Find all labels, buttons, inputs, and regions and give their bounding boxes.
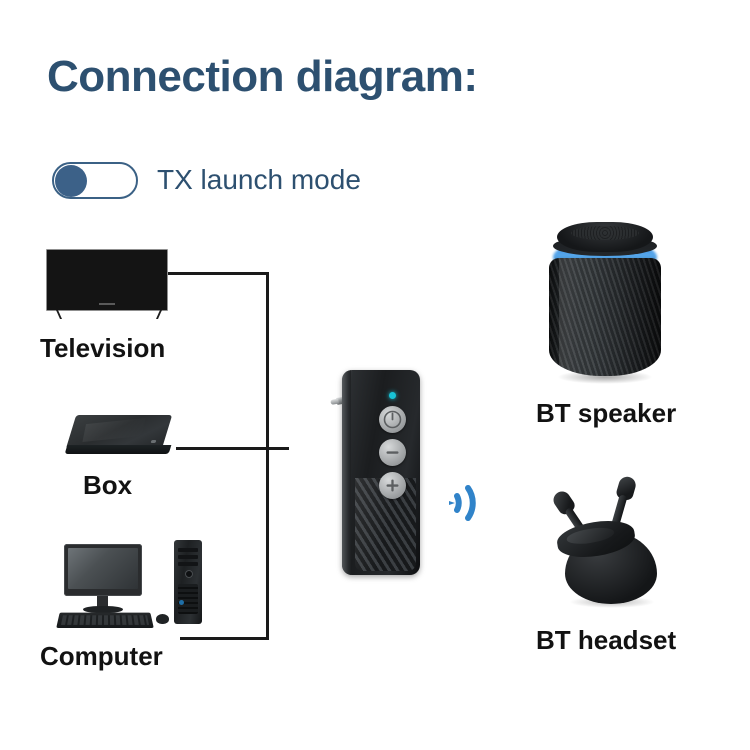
bluetooth-transmitter <box>330 370 420 575</box>
wire-television-branch <box>168 272 269 275</box>
monitor-screen <box>68 548 138 589</box>
transmitter-status-led <box>389 392 396 399</box>
keyboard-icon <box>56 613 154 628</box>
speaker-body <box>549 258 661 376</box>
television-label: Television <box>40 333 165 364</box>
bluetooth-signal-waves <box>448 472 510 534</box>
wire-computer-branch <box>180 637 269 640</box>
tx-launch-mode-label: TX launch mode <box>157 164 361 196</box>
wire-vertical-bus <box>266 272 269 640</box>
speaker-icon <box>545 222 665 390</box>
connection-diagram-canvas: Connection diagram: TX launch mode Telev… <box>0 0 750 750</box>
page-title: Connection diagram: <box>47 52 478 102</box>
earbuds-icon <box>535 470 685 610</box>
volume-down-button[interactable] <box>379 439 406 466</box>
power-button[interactable] <box>379 406 406 433</box>
pc-tower-icon <box>174 540 202 624</box>
tower-vent <box>178 584 198 614</box>
computer-label: Computer <box>40 641 163 672</box>
wire-box-branch <box>176 447 289 450</box>
television-screen <box>46 249 168 311</box>
speaker-top-cap <box>557 222 653 252</box>
television-logo <box>99 303 115 305</box>
bt-headset-label: BT headset <box>536 625 676 656</box>
tower-power-led <box>179 600 184 605</box>
box-label: Box <box>83 470 132 501</box>
box-front-face <box>65 445 172 454</box>
television-foot-left <box>56 310 78 319</box>
toggle-knob <box>55 165 87 197</box>
tower-dial <box>185 570 193 578</box>
desktop-computer-icon <box>52 540 202 630</box>
volume-up-button[interactable] <box>379 472 406 499</box>
set-top-box-icon <box>63 415 175 465</box>
television-foot-right <box>140 310 162 319</box>
bt-speaker-label: BT speaker <box>536 398 676 429</box>
mouse-icon <box>156 614 169 624</box>
tx-launch-mode-toggle[interactable] <box>52 162 138 199</box>
television-icon <box>46 249 168 317</box>
